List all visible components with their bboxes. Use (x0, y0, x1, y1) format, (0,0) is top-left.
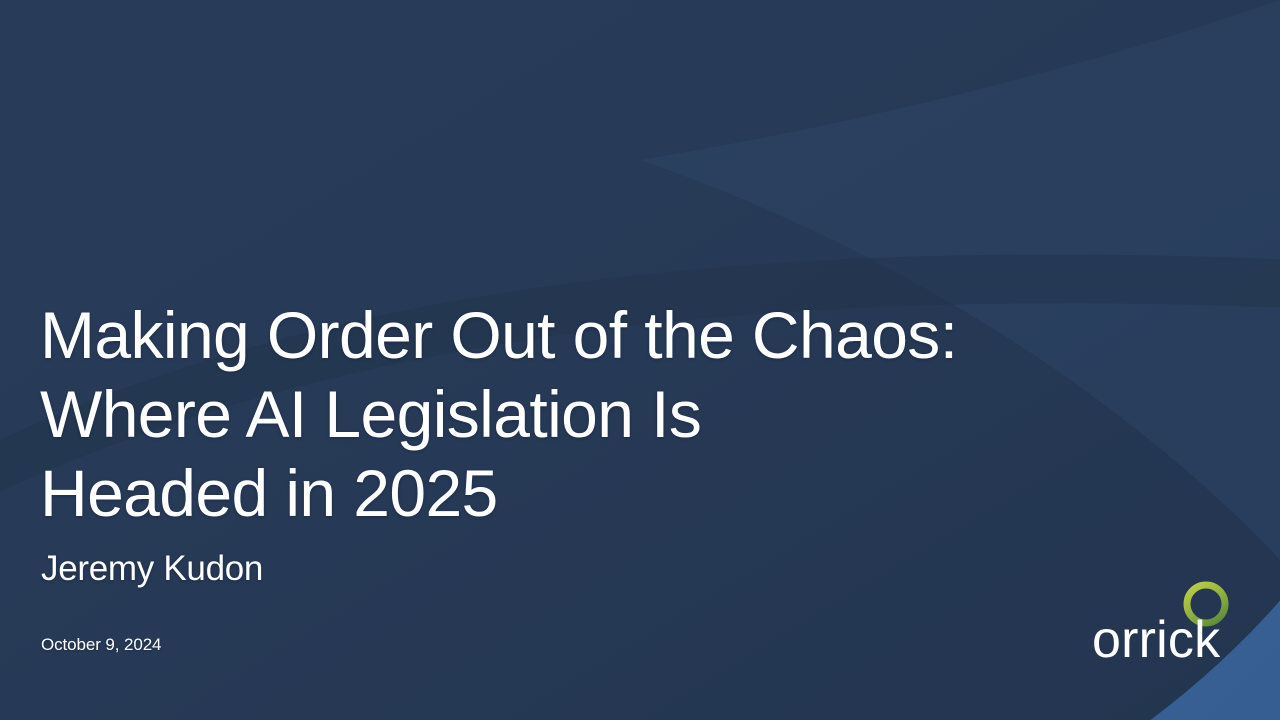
title-slide: Making Order Out of the Chaos: Where AI … (0, 0, 1280, 720)
slide-title: Making Order Out of the Chaos: Where AI … (40, 296, 1160, 533)
orrick-logo-svg: orrick (1092, 578, 1242, 670)
presenter-name: Jeremy Kudon (41, 548, 263, 590)
slide-date: October 9, 2024 (41, 634, 161, 656)
text-layer: Making Order Out of the Chaos: Where AI … (0, 0, 1280, 720)
orrick-logo: orrick (1092, 578, 1242, 670)
orrick-wordmark: orrick (1092, 611, 1221, 669)
